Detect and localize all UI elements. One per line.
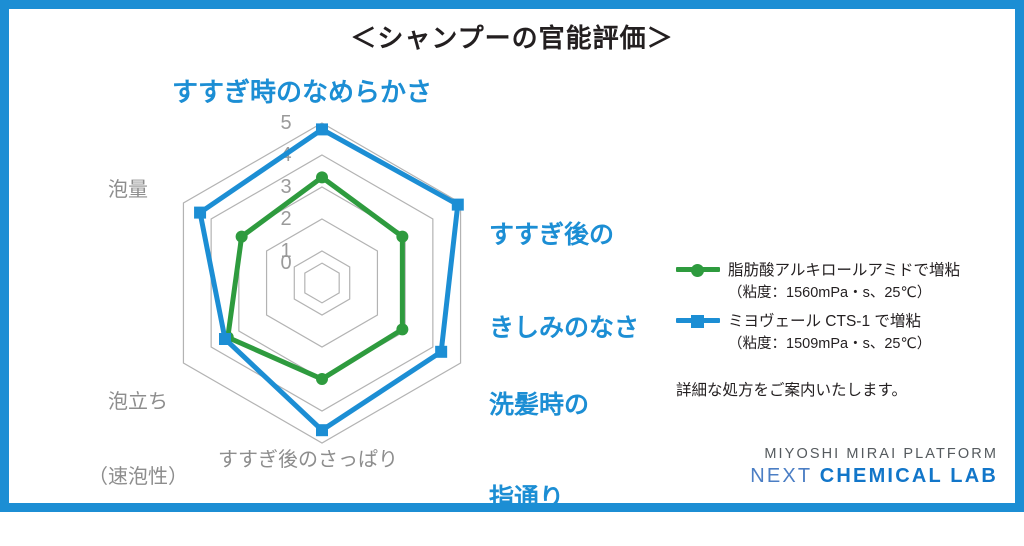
axis-label-refreshed-after-rinsing: すすぎ後のさっぱり <box>218 448 398 473</box>
axis-label-smoothness-when-rinsing: すすぎ時のなめらかさ <box>172 76 432 109</box>
data-point-square <box>219 333 231 345</box>
legend-marker-circle-icon <box>676 261 720 277</box>
data-point-circle <box>396 231 408 243</box>
axis-label-line2: （速泡性） <box>88 465 188 490</box>
radar-grid <box>183 123 460 443</box>
axis-label-line2: 指通り <box>489 483 589 514</box>
radial-tick-label: 0 <box>280 252 291 274</box>
axis-label-line1: 泡立ち <box>88 390 188 415</box>
contact-note: 詳細な処方をご案内いたします。 <box>676 378 907 400</box>
data-point-square <box>435 346 447 358</box>
radial-tick-label: 5 <box>280 112 291 134</box>
grid-ring <box>267 219 378 347</box>
grid-ring <box>294 251 349 315</box>
series-outline <box>228 177 403 379</box>
legend-marker-square-icon <box>676 312 720 328</box>
data-point-circle <box>236 231 248 243</box>
legend-item-green: 脂肪酸アルキロールアミドで増粘 <box>676 258 996 280</box>
radar-series-green <box>222 171 409 385</box>
legend-sublabel-blue: （粘度：1509mPa・s、25℃） <box>728 332 996 353</box>
data-point-circle <box>316 171 328 183</box>
logo-line-platform: MIYOSHI MIRAI PLATFORM <box>750 446 998 462</box>
logo-next-text: NEXT <box>750 465 820 487</box>
radar-series-layer <box>194 123 464 436</box>
grid-ring <box>211 155 433 411</box>
radial-tick-labels: 543210 <box>280 112 291 274</box>
axis-label-finger-flow-when-washing: 洗髪時の 指通り <box>489 327 589 546</box>
radial-tick-label: 3 <box>280 176 291 198</box>
axis-label-foaming-speed: 泡立ち （速泡性） <box>88 340 188 515</box>
grid-ring <box>239 187 405 379</box>
radial-tick-label: 2 <box>280 208 291 230</box>
grid-ring-center <box>305 263 339 303</box>
data-point-square <box>194 207 206 219</box>
chart-legend: 脂肪酸アルキロールアミドで増粘 （粘度：1560mPa・s、25℃） ミヨヴェー… <box>676 258 996 360</box>
data-point-square <box>316 123 328 135</box>
axis-label-line1: 洗髪時の <box>489 390 589 421</box>
legend-label-green: 脂肪酸アルキロールアミドで増粘 <box>728 258 960 280</box>
axis-label-line1: すすぎ後の <box>489 220 639 251</box>
logo-chemical-lab-text: CHEMICAL LAB <box>820 465 998 487</box>
data-point-square <box>452 199 464 211</box>
axis-label-foam-volume: 泡量 <box>108 178 148 203</box>
data-point-circle <box>396 323 408 335</box>
logo-line-lab: NEXT CHEMICAL LAB <box>750 465 998 488</box>
data-point-circle <box>316 373 328 385</box>
grid-ring <box>183 123 460 443</box>
legend-sublabel-green: （粘度：1560mPa・s、25℃） <box>728 281 996 302</box>
legend-item-blue: ミヨヴェール CTS-1 で増粘 <box>676 309 996 331</box>
legend-label-blue: ミヨヴェール CTS-1 で増粘 <box>728 309 921 331</box>
page-title: ＜シャンプーの官能評価＞ <box>0 18 1024 55</box>
data-point-square <box>316 424 328 436</box>
brand-logo: MIYOSHI MIRAI PLATFORM NEXT CHEMICAL LAB <box>750 446 998 488</box>
